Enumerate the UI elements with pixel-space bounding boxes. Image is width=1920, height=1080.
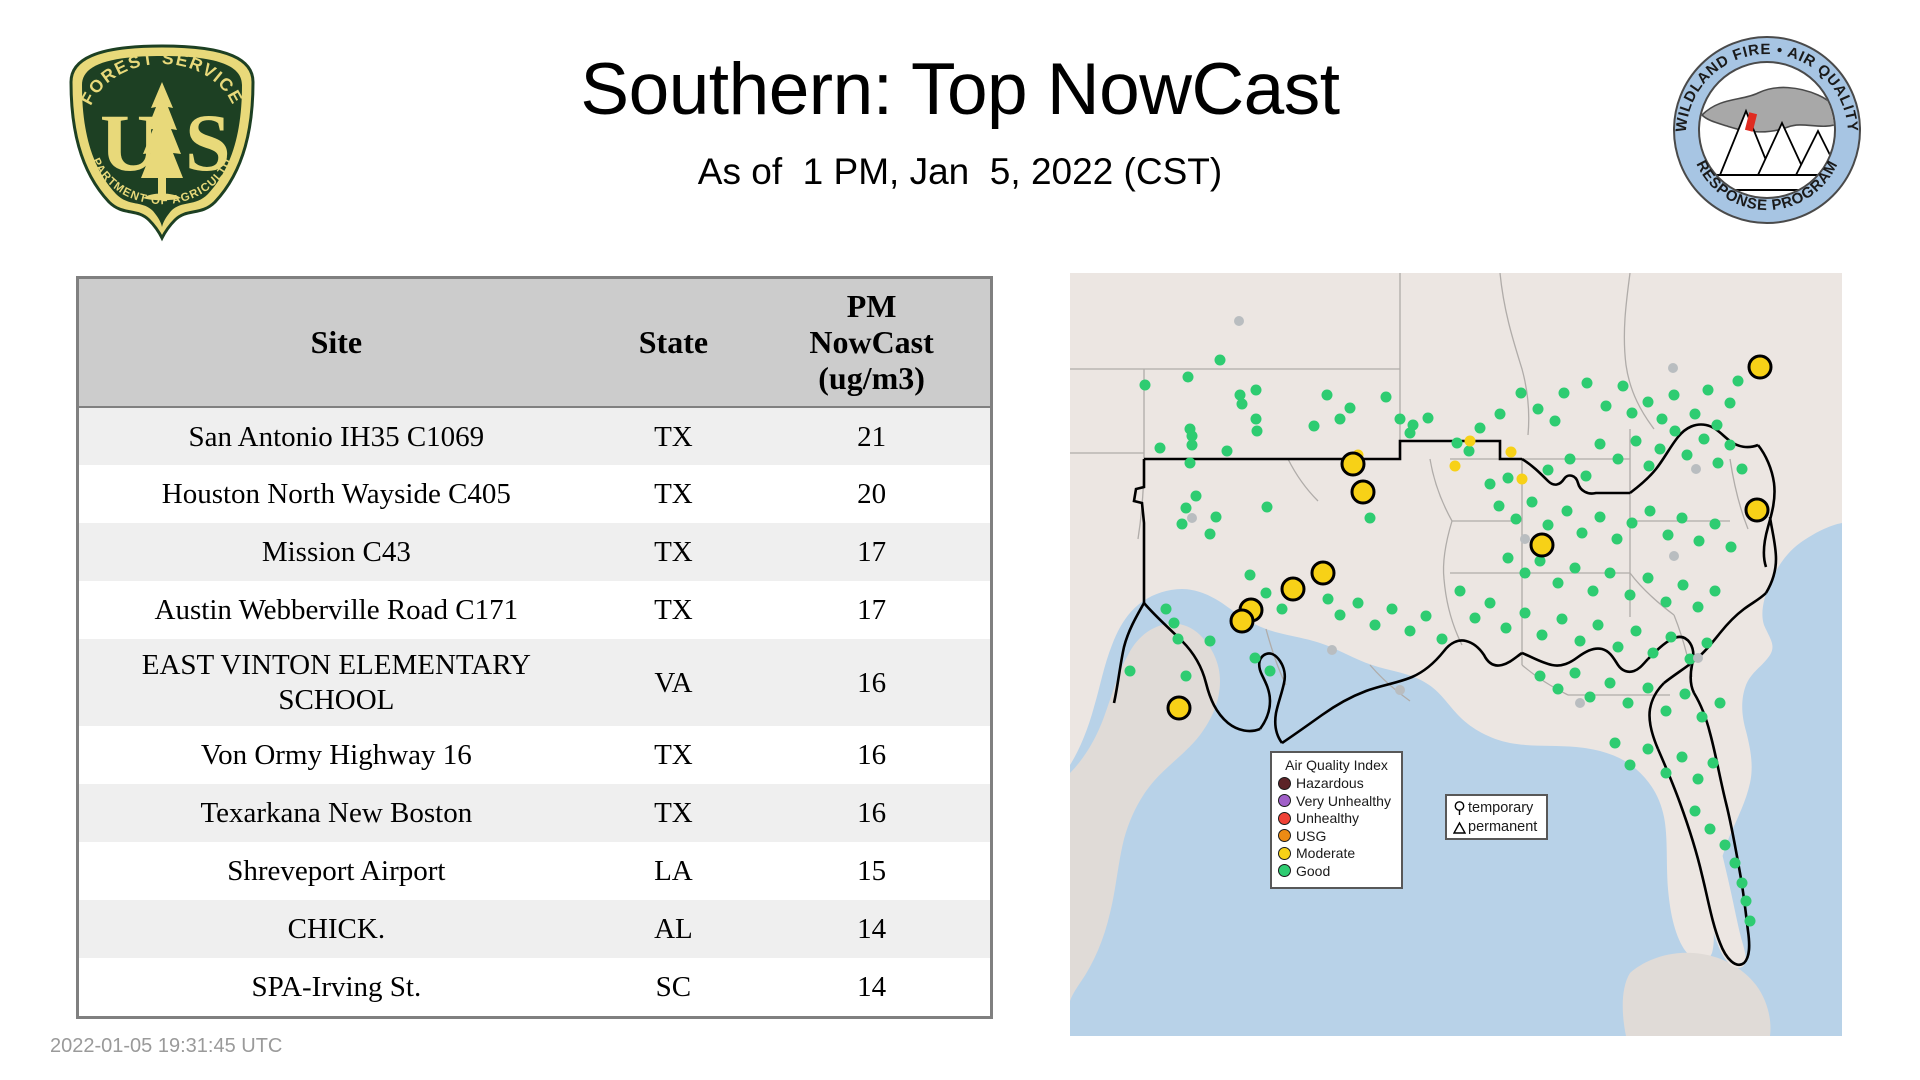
monitor-marker-good	[1181, 671, 1192, 682]
monitor-marker-good	[1155, 443, 1166, 454]
pm-cell: 14	[753, 900, 990, 958]
pm-cell: 16	[753, 784, 990, 842]
monitor-marker-good	[1559, 388, 1570, 399]
monitor-marker-good	[1370, 620, 1381, 631]
site-cell: Houston North Wayside C405	[79, 465, 594, 523]
table-row: Houston North Wayside C405TX20	[79, 465, 990, 523]
state-cell: LA	[594, 842, 753, 900]
table-row: EAST VINTON ELEMENTARY SCHOOLVA16	[79, 639, 990, 725]
monitor-marker-good	[1612, 534, 1623, 545]
monitor-marker-good	[1464, 446, 1475, 457]
monitor-marker-good	[1177, 519, 1188, 530]
aqi-legend-label: Very Unhealthy	[1296, 794, 1391, 808]
monitor-marker-good	[1527, 497, 1538, 508]
aqi-legend-item: Very Unhealthy	[1278, 792, 1395, 810]
monitor-marker-top-site	[1746, 499, 1768, 521]
monitor-marker-good	[1643, 397, 1654, 408]
monitor-marker-good	[1345, 403, 1356, 414]
table-header: Site State PM NowCast (ug/m3)	[79, 279, 990, 407]
pm-cell: 17	[753, 581, 990, 639]
pm-cell: 15	[753, 842, 990, 900]
monitor-marker-moderate	[1517, 474, 1528, 485]
monitor-marker-good	[1618, 381, 1629, 392]
monitor-marker-good	[1520, 608, 1531, 619]
monitor-marker-nodata	[1668, 363, 1678, 373]
monitor-marker-good	[1677, 752, 1688, 763]
monitor-marker-top-site	[1282, 578, 1304, 600]
monitor-marker-good	[1577, 528, 1588, 539]
monitor-marker-good	[1645, 506, 1656, 517]
monitor-marker-good	[1222, 446, 1233, 457]
table-row: SPA-Irving St.SC14	[79, 958, 990, 1016]
monitor-marker-good	[1582, 378, 1593, 389]
monitor-marker-good	[1173, 634, 1184, 645]
monitor-legend-row-temporary: temporary	[1451, 799, 1542, 818]
pm-header-line-3: (ug/m3)	[757, 361, 986, 397]
monitor-marker-good	[1495, 409, 1506, 420]
monitor-marker-good	[1251, 385, 1262, 396]
monitor-marker-good	[1570, 668, 1581, 679]
monitor-marker-good	[1475, 423, 1486, 434]
aqi-legend-label: Hazardous	[1296, 776, 1364, 790]
monitor-marker-good	[1245, 570, 1256, 581]
monitor-marker-top-site	[1312, 562, 1334, 584]
monitor-marker-good	[1585, 692, 1596, 703]
aqi-legend-item: Moderate	[1278, 845, 1395, 863]
monitor-marker-good	[1161, 604, 1172, 615]
site-cell: San Antonio IH35 C1069	[79, 407, 594, 465]
monitor-marker-good	[1265, 666, 1276, 677]
temporary-circle-icon	[1451, 801, 1468, 816]
map-canvas	[1070, 273, 1842, 1036]
monitor-marker-good	[1516, 388, 1527, 399]
monitor-marker-good	[1715, 698, 1726, 709]
site-cell: Texarkana New Boston	[79, 784, 594, 842]
aqi-swatch-icon	[1278, 864, 1291, 877]
monitor-marker-good	[1570, 563, 1581, 574]
monitor-marker-good	[1702, 638, 1713, 649]
monitor-marker-good	[1678, 580, 1689, 591]
monitor-marker-good	[1323, 594, 1334, 605]
monitor-marker-good	[1631, 436, 1642, 447]
monitor-marker-good	[1381, 392, 1392, 403]
monitor-marker-good	[1631, 626, 1642, 637]
monitor-marker-good	[1595, 512, 1606, 523]
table-body: San Antonio IH35 C1069TX21Houston North …	[79, 407, 990, 1015]
monitor-marker-good	[1677, 513, 1688, 524]
monitor-marker-good	[1648, 648, 1659, 659]
monitor-marker-good	[1644, 461, 1655, 472]
aqi-legend-rows: HazardousVery UnhealthyUnhealthyUSGModer…	[1278, 775, 1395, 880]
monitor-marker-good	[1485, 479, 1496, 490]
monitor-marker-top-site	[1749, 356, 1771, 378]
page-title: Southern: Top NowCast	[0, 0, 1920, 129]
monitor-marker-good	[1470, 613, 1481, 624]
monitor-marker-good	[1437, 634, 1448, 645]
air-quality-map[interactable]: Air Quality Index HazardousVery Unhealth…	[1070, 273, 1842, 1036]
monitor-marker-good	[1125, 666, 1136, 677]
monitor-marker-good	[1613, 454, 1624, 465]
monitor-marker-nodata	[1327, 645, 1337, 655]
monitor-marker-good	[1643, 683, 1654, 694]
monitor-marker-good	[1365, 513, 1376, 524]
monitor-marker-good	[1627, 408, 1638, 419]
monitor-marker-good	[1737, 878, 1748, 889]
column-header-state: State	[594, 279, 753, 407]
site-cell: Von Ormy Highway 16	[79, 726, 594, 784]
pm-cell: 20	[753, 465, 990, 523]
monitor-marker-good	[1562, 506, 1573, 517]
monitor-marker-good	[1309, 421, 1320, 432]
monitor-marker-good	[1697, 712, 1708, 723]
monitor-marker-good	[1657, 414, 1668, 425]
monitor-marker-nodata	[1395, 685, 1405, 695]
aqi-swatch-icon	[1278, 847, 1291, 860]
state-cell: VA	[594, 639, 753, 725]
monitor-marker-good	[1185, 458, 1196, 469]
monitor-marker-top-site	[1531, 534, 1553, 556]
state-cell: TX	[594, 407, 753, 465]
monitor-marker-good	[1730, 858, 1741, 869]
monitor-marker-good	[1140, 380, 1151, 391]
pm-cell: 17	[753, 523, 990, 581]
site-cell: EAST VINTON ELEMENTARY SCHOOL	[79, 639, 594, 725]
page-header: FOREST SERVICE U S DEPARTMENT OF AGRICUL…	[0, 0, 1920, 270]
aqi-legend-item: Unhealthy	[1278, 810, 1395, 828]
monitor-marker-good	[1575, 636, 1586, 647]
table-row: Austin Webberville Road C171TX17	[79, 581, 990, 639]
wildland-fire-air-quality-icon: WILDLAND FIRE • AIR QUALITY RESPONSE PRO…	[1672, 35, 1862, 225]
monitor-marker-good	[1335, 414, 1346, 425]
monitor-marker-good	[1737, 464, 1748, 475]
permanent-triangle-icon	[1451, 821, 1468, 835]
monitor-marker-good	[1627, 518, 1638, 529]
monitor-marker-good	[1553, 578, 1564, 589]
site-cell: CHICK.	[79, 900, 594, 958]
monitor-marker-good	[1261, 588, 1272, 599]
aqi-legend-item: USG	[1278, 827, 1395, 845]
aqi-swatch-icon	[1278, 777, 1291, 790]
monitor-marker-good	[1455, 586, 1466, 597]
monitor-marker-good	[1693, 774, 1704, 785]
state-cell: AL	[594, 900, 753, 958]
pm-header-line-2: NowCast	[757, 325, 986, 361]
monitor-marker-nodata	[1234, 316, 1244, 326]
site-cell: Austin Webberville Road C171	[79, 581, 594, 639]
monitor-marker-good	[1565, 454, 1576, 465]
monitor-marker-top-site	[1342, 453, 1364, 475]
monitor-marker-good	[1593, 620, 1604, 631]
monitor-marker-good	[1655, 444, 1666, 455]
monitor-marker-good	[1710, 586, 1721, 597]
monitor-marker-good	[1610, 738, 1621, 749]
monitor-marker-good	[1670, 426, 1681, 437]
monitor-marker-good	[1421, 611, 1432, 622]
monitor-marker-good	[1595, 439, 1606, 450]
aqi-swatch-icon	[1278, 829, 1291, 842]
monitor-marker-good	[1623, 698, 1634, 709]
monitor-marker-good	[1395, 414, 1406, 425]
monitor-marker-top-site	[1231, 610, 1253, 632]
monitor-marker-good	[1251, 414, 1262, 425]
monitor-marker-nodata	[1575, 698, 1585, 708]
monitor-marker-good	[1405, 626, 1416, 637]
top-nowcast-table: Site State PM NowCast (ug/m3) San Antoni…	[79, 279, 990, 1016]
monitor-marker-nodata	[1187, 513, 1197, 523]
state-cell: TX	[594, 726, 753, 784]
monitor-marker-good	[1322, 390, 1333, 401]
monitor-marker-moderate	[1506, 447, 1517, 458]
aqi-legend-item: Hazardous	[1278, 775, 1395, 793]
monitor-marker-good	[1553, 684, 1564, 695]
monitor-marker-good	[1605, 678, 1616, 689]
monitor-marker-good	[1643, 573, 1654, 584]
aqi-legend-label: Moderate	[1296, 846, 1355, 860]
monitor-marker-good	[1725, 440, 1736, 451]
aqi-legend-label: USG	[1296, 829, 1326, 843]
monitor-marker-good	[1191, 491, 1202, 502]
pm-cell: 21	[753, 407, 990, 465]
monitor-marker-good	[1205, 636, 1216, 647]
site-cell: Mission C43	[79, 523, 594, 581]
monitor-marker-good	[1503, 473, 1514, 484]
monitor-marker-good	[1262, 502, 1273, 513]
monitor-marker-good	[1535, 671, 1546, 682]
monitor-marker-good	[1169, 618, 1180, 629]
monitor-marker-good	[1520, 568, 1531, 579]
monitor-marker-nodata	[1693, 653, 1703, 663]
aqi-swatch-icon	[1278, 812, 1291, 825]
monitor-legend-row-permanent: permanent	[1451, 818, 1542, 837]
monitor-marker-good	[1720, 840, 1731, 851]
site-cell: Shreveport Airport	[79, 842, 594, 900]
table-row: Shreveport AirportLA15	[79, 842, 990, 900]
top-nowcast-table-container: Site State PM NowCast (ug/m3) San Antoni…	[76, 276, 993, 1019]
monitor-marker-good	[1277, 604, 1288, 615]
table-row: Von Ormy Highway 16TX16	[79, 726, 990, 784]
monitor-marker-nodata	[1691, 464, 1701, 474]
monitor-marker-good	[1252, 426, 1263, 437]
monitor-marker-good	[1581, 471, 1592, 482]
monitor-marker-good	[1680, 689, 1691, 700]
wfaqrp-logo: WILDLAND FIRE • AIR QUALITY RESPONSE PRO…	[1672, 35, 1862, 225]
monitor-marker-good	[1708, 758, 1719, 769]
monitor-marker-good	[1690, 409, 1701, 420]
monitor-marker-top-site	[1352, 481, 1374, 503]
monitor-marker-good	[1690, 806, 1701, 817]
monitor-marker-good	[1741, 896, 1752, 907]
monitor-marker-good	[1353, 598, 1364, 609]
monitor-type-legend: temporary permanent	[1445, 794, 1548, 840]
monitor-marker-good	[1501, 623, 1512, 634]
monitor-marker-good	[1215, 355, 1226, 366]
monitor-marker-moderate	[1450, 461, 1461, 472]
monitor-marker-good	[1693, 602, 1704, 613]
page-subtitle: As of 1 PM, Jan 5, 2022 (CST)	[0, 129, 1920, 193]
monitor-marker-good	[1250, 653, 1261, 664]
state-cell: TX	[594, 465, 753, 523]
site-cell: SPA-Irving St.	[79, 958, 594, 1016]
monitor-marker-good	[1663, 530, 1674, 541]
table-row: Mission C43TX17	[79, 523, 990, 581]
monitor-marker-good	[1643, 744, 1654, 755]
monitor-marker-good	[1705, 824, 1716, 835]
table-header-row: Site State PM NowCast (ug/m3)	[79, 279, 990, 407]
aqi-legend-label: Good	[1296, 864, 1330, 878]
monitor-marker-good	[1588, 586, 1599, 597]
monitor-marker-good	[1625, 590, 1636, 601]
aqi-swatch-icon	[1278, 794, 1291, 807]
monitor-marker-good	[1537, 630, 1548, 641]
state-cell: TX	[594, 581, 753, 639]
aqi-legend: Air Quality Index HazardousVery Unhealth…	[1270, 751, 1403, 889]
monitor-legend-label-permanent: permanent	[1468, 820, 1537, 835]
table-row: San Antonio IH35 C1069TX21	[79, 407, 990, 465]
monitor-marker-good	[1187, 440, 1198, 451]
monitor-marker-good	[1703, 385, 1714, 396]
monitor-marker-good	[1601, 401, 1612, 412]
monitor-marker-good	[1613, 642, 1624, 653]
column-header-pm-nowcast: PM NowCast (ug/m3)	[753, 279, 990, 407]
monitor-marker-good	[1557, 614, 1568, 625]
monitor-marker-good	[1485, 598, 1496, 609]
monitor-marker-good	[1710, 519, 1721, 530]
column-header-site: Site	[79, 279, 594, 407]
pm-cell: 16	[753, 639, 990, 725]
monitor-marker-good	[1682, 450, 1693, 461]
monitor-marker-good	[1205, 529, 1216, 540]
monitor-marker-good	[1543, 520, 1554, 531]
pm-cell: 14	[753, 958, 990, 1016]
monitor-marker-good	[1745, 916, 1756, 927]
monitor-marker-good	[1533, 404, 1544, 415]
monitor-marker-good	[1183, 372, 1194, 383]
monitor-marker-good	[1237, 399, 1248, 410]
monitor-marker-good	[1408, 420, 1419, 431]
monitor-marker-good	[1725, 398, 1736, 409]
state-cell: TX	[594, 523, 753, 581]
monitor-marker-good	[1666, 632, 1677, 643]
monitor-marker-good	[1605, 568, 1616, 579]
monitor-marker-good	[1494, 501, 1505, 512]
monitor-marker-good	[1661, 597, 1672, 608]
aqi-legend-title: Air Quality Index	[1278, 758, 1395, 773]
aqi-legend-label: Unhealthy	[1296, 811, 1359, 825]
monitor-marker-good	[1661, 706, 1672, 717]
monitor-marker-good	[1661, 768, 1672, 779]
state-cell: SC	[594, 958, 753, 1016]
monitor-marker-good	[1423, 413, 1434, 424]
monitor-marker-good	[1726, 542, 1737, 553]
table-row: CHICK.AL14	[79, 900, 990, 958]
title-block: Southern: Top NowCast As of 1 PM, Jan 5,…	[0, 0, 1920, 193]
monitor-marker-good	[1543, 465, 1554, 476]
monitor-legend-label-temporary: temporary	[1468, 801, 1533, 816]
monitor-marker-good	[1699, 434, 1710, 445]
monitor-marker-good	[1387, 604, 1398, 615]
generation-timestamp: 2022-01-05 19:31:45 UTC	[50, 1035, 282, 1058]
monitor-marker-good	[1211, 512, 1222, 523]
pm-header-line-1: PM	[757, 289, 986, 325]
pm-cell: 16	[753, 726, 990, 784]
monitor-marker-good	[1733, 376, 1744, 387]
monitor-marker-good	[1550, 416, 1561, 427]
monitor-marker-moderate	[1465, 436, 1476, 447]
monitor-marker-good	[1713, 458, 1724, 469]
monitor-marker-good	[1335, 610, 1346, 621]
monitor-marker-top-site	[1168, 697, 1190, 719]
monitor-marker-good	[1452, 438, 1463, 449]
monitor-marker-good	[1181, 503, 1192, 514]
monitor-marker-good	[1712, 420, 1723, 431]
monitor-marker-nodata	[1520, 534, 1530, 544]
state-cell: TX	[594, 784, 753, 842]
monitor-marker-good	[1625, 760, 1636, 771]
table-row: Texarkana New BostonTX16	[79, 784, 990, 842]
monitor-marker-good	[1503, 553, 1514, 564]
monitor-marker-nodata	[1669, 551, 1679, 561]
monitor-marker-good	[1511, 514, 1522, 525]
aqi-legend-item: Good	[1278, 862, 1395, 880]
monitor-marker-good	[1669, 390, 1680, 401]
monitor-marker-good	[1694, 536, 1705, 547]
